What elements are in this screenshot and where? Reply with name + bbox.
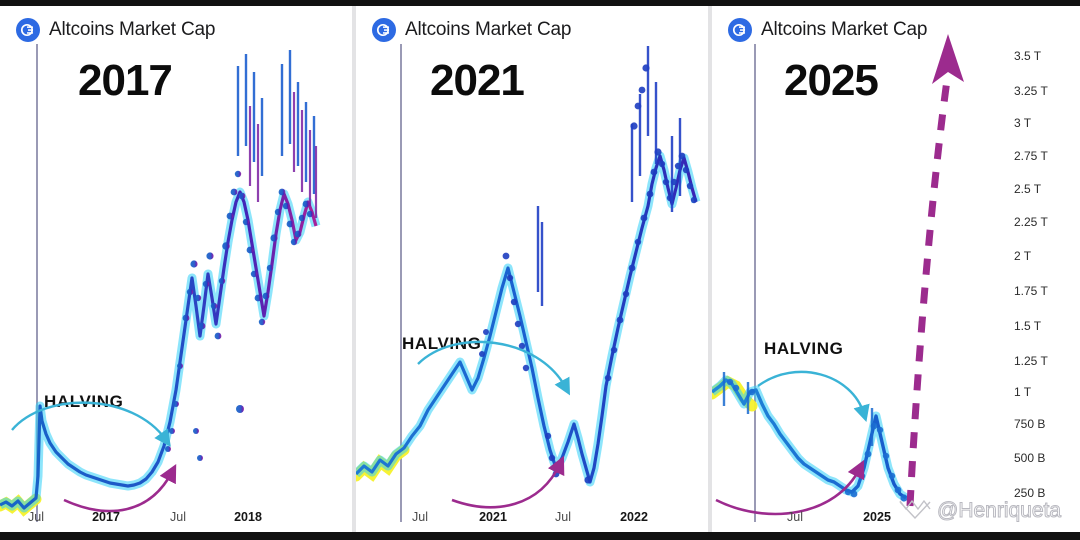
x-tick: Jul (787, 510, 803, 524)
y-tick: 250 B (1014, 486, 1045, 500)
x-tick: 2018 (234, 510, 262, 524)
chart-panel-2025: Altcoins Market Cap 2025 HALVING (712, 6, 1000, 532)
recovery-arrow (64, 472, 172, 511)
y-tick: 3 T (1014, 116, 1031, 130)
recovery-arrow (716, 468, 860, 514)
projection-arrowhead (932, 34, 964, 84)
price-chart-2021 (356, 6, 708, 532)
halving-arrow (418, 342, 566, 388)
x-tick: 2021 (479, 510, 507, 524)
y-tick: 500 B (1014, 451, 1045, 465)
infographic-canvas: Altcoins Market Cap 2017 HALVING (0, 0, 1080, 540)
x-tick: Jul (555, 510, 571, 524)
projection-dashed-arrow (910, 80, 947, 506)
y-tick: 3.25 T (1014, 84, 1048, 98)
halving-arrow (758, 372, 864, 414)
y-tick: 1.5 T (1014, 319, 1041, 333)
y-tick: 1.25 T (1014, 354, 1048, 368)
x-tick: Jul (412, 510, 428, 524)
y-tick: 1.75 T (1014, 284, 1048, 298)
recovery-arrow (452, 464, 560, 507)
x-tick: Jul (170, 510, 186, 524)
price-chart-2025 (712, 6, 1000, 532)
chart-panel-2021: Altcoins Market Cap 2021 HALVING (356, 6, 708, 532)
y-tick: 750 B (1014, 417, 1045, 431)
x-tick: 2022 (620, 510, 648, 524)
y-tick: 3.5 T (1014, 49, 1041, 63)
y-tick: 1 T (1014, 385, 1031, 399)
y-tick: 2.25 T (1014, 215, 1048, 229)
chart-panel-2017: Altcoins Market Cap 2017 HALVING (0, 6, 352, 532)
x-tick: 2017 (92, 510, 120, 524)
x-tick: 2025 (863, 510, 891, 524)
x-tick: Jul (28, 510, 44, 524)
y-tick: 2 T (1014, 249, 1031, 263)
y-tick: 2.75 T (1014, 149, 1048, 163)
y-tick: 2.5 T (1014, 182, 1041, 196)
y-axis-scale: 3.5 T 3.25 T 3 T 2.75 T 2.5 T 2.25 T 2 T… (1000, 6, 1080, 532)
price-chart-2017 (0, 6, 352, 532)
